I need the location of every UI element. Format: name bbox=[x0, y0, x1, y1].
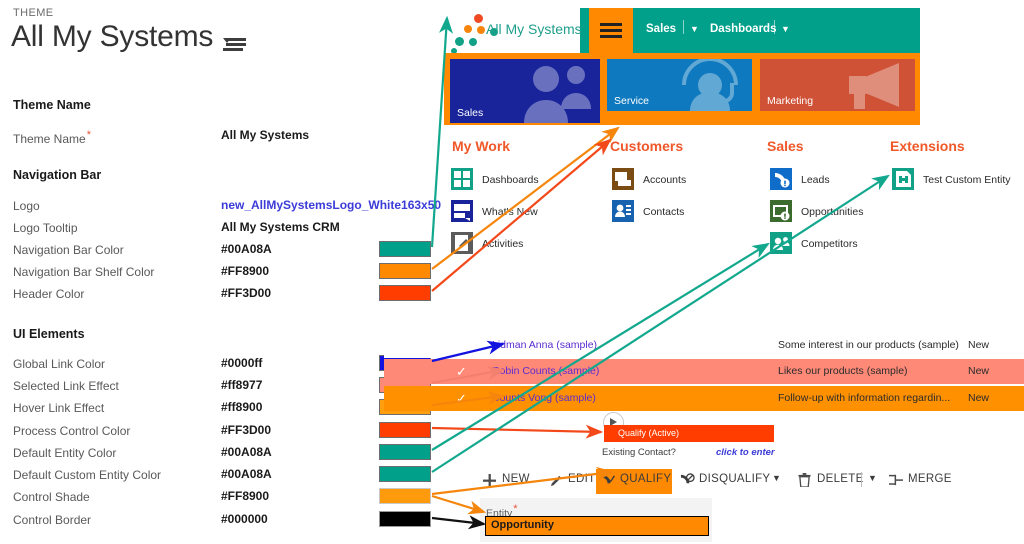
sitemap-group-my-work: My Work bbox=[452, 138, 510, 154]
command-separator bbox=[861, 472, 862, 487]
field-value-process-control-color[interactable]: #FF3D00 bbox=[221, 423, 271, 437]
swatch-control-border bbox=[379, 511, 431, 527]
contacts-icon[interactable] bbox=[612, 200, 634, 222]
field-value-header-color[interactable]: #FF3D00 bbox=[221, 286, 271, 300]
row-topic: Follow-up with information regardin... bbox=[778, 392, 950, 404]
field-value-global-link-color[interactable]: #0000ff bbox=[221, 356, 262, 370]
field-value-hover-link-effect[interactable]: #ff8900 bbox=[221, 400, 262, 414]
sitemap-item-accounts[interactable]: Accounts bbox=[643, 174, 686, 186]
sitemap-item-dashboards[interactable]: Dashboards bbox=[482, 174, 539, 186]
process-stage-qualify[interactable]: Qualify (Active) bbox=[604, 425, 774, 442]
field-label-navigation-bar-color: Navigation Bar Color bbox=[13, 243, 124, 257]
command-edit[interactable]: EDIT bbox=[568, 473, 595, 485]
plus-icon bbox=[483, 474, 496, 487]
people-icon bbox=[514, 61, 594, 123]
nav-separator-1 bbox=[683, 20, 684, 34]
process-stage-label: Qualify (Active) bbox=[618, 428, 679, 438]
tile-service[interactable]: Service bbox=[607, 59, 752, 111]
tile-marketing[interactable]: Marketing bbox=[760, 59, 915, 111]
tile-label-service: Service bbox=[614, 95, 649, 107]
page-title: All My Systems bbox=[11, 20, 213, 54]
sitemap-item-leads[interactable]: Leads bbox=[801, 174, 830, 186]
sitemap-item-whats-new[interactable]: What's New bbox=[482, 206, 538, 218]
disqualify-icon bbox=[680, 473, 695, 487]
tile-label-marketing: Marketing bbox=[767, 95, 813, 107]
field-label-logo-tooltip: Logo Tooltip bbox=[13, 221, 78, 235]
theme-form-pane: THEME All My Systems Theme Name Navigati… bbox=[0, 0, 440, 544]
accounts-icon[interactable] bbox=[612, 168, 634, 190]
field-value-default-custom-entity-color[interactable]: #00A08A bbox=[221, 467, 272, 481]
field-label-selected-link-effect: Selected Link Effect bbox=[13, 379, 119, 393]
command-qualify[interactable]: QUALIFY bbox=[620, 473, 671, 485]
app-logo-text: All My Systems bbox=[486, 21, 582, 37]
row-status: New bbox=[968, 392, 989, 404]
field-label-navigation-bar-shelf-color: Navigation Bar Shelf Color bbox=[13, 265, 154, 279]
row-name[interactable]: Counts Vong (sample) bbox=[492, 392, 596, 404]
row-status: New bbox=[968, 365, 989, 377]
section-header-ui-elements: UI Elements bbox=[13, 327, 85, 341]
sitemap-item-contacts[interactable]: Contacts bbox=[643, 206, 684, 218]
record-menu-icon[interactable] bbox=[223, 38, 243, 54]
field-value-control-border[interactable]: #000000 bbox=[221, 512, 268, 526]
nav-separator-2 bbox=[774, 20, 775, 34]
megaphone-icon bbox=[839, 59, 909, 111]
opportunities-icon[interactable] bbox=[770, 200, 792, 222]
row-topic: Likes our products (sample) bbox=[778, 365, 908, 377]
leads-icon[interactable] bbox=[770, 168, 792, 190]
table-row[interactable]: ✓ Counts Vong (sample) Follow-up with in… bbox=[384, 386, 1024, 411]
row-check-icon[interactable]: ✓ bbox=[456, 364, 467, 380]
record-type-eyebrow: THEME bbox=[13, 7, 54, 19]
nav-caret-sales-icon[interactable]: ▼ bbox=[690, 24, 699, 34]
swatch-process-control-color bbox=[379, 422, 431, 438]
field-label-hover-link-effect: Hover Link Effect bbox=[13, 401, 104, 415]
table-row[interactable]: ✓ Robin Counts (sample) Likes our produc… bbox=[384, 359, 1024, 384]
field-value-control-shade[interactable]: #FF8900 bbox=[221, 489, 269, 503]
command-new[interactable]: NEW bbox=[502, 473, 530, 485]
field-value-logo-tooltip[interactable]: All My Systems CRM bbox=[221, 220, 340, 234]
entity-field-value: Opportunity bbox=[491, 519, 554, 531]
nav-item-dashboards[interactable]: Dashboards bbox=[710, 23, 776, 35]
field-label-default-entity-color: Default Entity Color bbox=[13, 446, 116, 460]
command-merge[interactable]: MERGE bbox=[908, 473, 952, 485]
qualify-icon bbox=[601, 474, 615, 487]
field-label-default-custom-entity-color: Default Custom Entity Color bbox=[13, 468, 161, 482]
custom-entity-icon[interactable] bbox=[892, 168, 914, 190]
sitemap-item-competitors[interactable]: Competitors bbox=[801, 238, 858, 250]
swatch-default-entity-color bbox=[379, 444, 431, 460]
command-disqualify-caret-icon[interactable]: ▼ bbox=[772, 473, 781, 483]
field-value-selected-link-effect[interactable]: #ff8977 bbox=[221, 378, 262, 392]
section-header-theme-name: Theme Name bbox=[13, 98, 91, 112]
entity-field-input[interactable]: Opportunity bbox=[485, 516, 709, 536]
section-header-navigation-bar: Navigation Bar bbox=[13, 168, 101, 182]
tile-sales[interactable]: Sales bbox=[450, 59, 600, 123]
row-topic: Some interest in our products (sample) bbox=[778, 339, 959, 351]
site-map-toggle-icon[interactable] bbox=[589, 8, 633, 53]
table-row[interactable]: Lidman Anna (sample) Some interest in ou… bbox=[384, 333, 1024, 358]
trash-icon bbox=[798, 473, 811, 487]
theme-preview-pane: All My Systems Sales ▼ Dashboards ▼ Sale… bbox=[440, 0, 1024, 544]
activities-icon[interactable] bbox=[451, 232, 473, 254]
swatch-navigation-bar-color bbox=[379, 241, 431, 257]
row-status: New bbox=[968, 339, 989, 351]
field-value-theme-name[interactable]: All My Systems bbox=[221, 128, 309, 142]
field-label-global-link-color: Global Link Color bbox=[13, 357, 105, 371]
field-value-navigation-bar-shelf-color[interactable]: #FF8900 bbox=[221, 264, 269, 278]
pencil-icon bbox=[550, 474, 563, 487]
process-field-label: Existing Contact? bbox=[602, 447, 676, 458]
headset-icon bbox=[674, 59, 746, 111]
merge-icon bbox=[889, 473, 903, 487]
command-delete-caret-icon[interactable]: ▼ bbox=[868, 473, 877, 483]
tile-label-sales: Sales bbox=[457, 107, 483, 119]
field-value-navigation-bar-color[interactable]: #00A08A bbox=[221, 242, 272, 256]
row-name[interactable]: Robin Counts (sample) bbox=[492, 365, 599, 377]
field-label-logo: Logo bbox=[13, 199, 40, 213]
swatch-navigation-bar-shelf-color bbox=[379, 263, 431, 279]
competitors-icon[interactable] bbox=[770, 232, 792, 254]
nav-item-sales[interactable]: Sales bbox=[646, 23, 676, 35]
swatch-default-custom-entity-color bbox=[379, 466, 431, 482]
field-label-control-shade: Control Shade bbox=[13, 490, 90, 504]
sitemap-item-test-custom-entity[interactable]: Test Custom Entity bbox=[923, 174, 1011, 186]
swatch-control-shade bbox=[379, 488, 431, 504]
swatch-header-color bbox=[379, 285, 431, 301]
command-delete[interactable]: DELETE bbox=[817, 473, 864, 485]
row-name[interactable]: Lidman Anna (sample) bbox=[492, 339, 597, 351]
row-check-icon[interactable]: ✓ bbox=[456, 391, 467, 407]
field-label-header-color: Header Color bbox=[13, 287, 84, 301]
app-logo-container[interactable]: All My Systems bbox=[444, 8, 580, 53]
sitemap-group-extensions: Extensions bbox=[890, 138, 965, 154]
field-label-control-border: Control Border bbox=[13, 513, 91, 527]
dashboard-icon[interactable] bbox=[451, 168, 473, 190]
field-value-default-entity-color[interactable]: #00A08A bbox=[221, 445, 272, 459]
sitemap-item-activities[interactable]: Activities bbox=[482, 238, 523, 250]
sitemap-item-opportunities[interactable]: Opportunities bbox=[801, 206, 863, 218]
field-label-theme-name: Theme Name* bbox=[13, 129, 91, 146]
field-value-logo[interactable]: new_AllMySystemsLogo_White163x50 bbox=[221, 198, 441, 212]
field-label-process-control-color: Process Control Color bbox=[13, 424, 130, 438]
nav-caret-dashboards-icon[interactable]: ▼ bbox=[781, 24, 790, 34]
sitemap-group-customers: Customers bbox=[610, 138, 683, 154]
command-disqualify[interactable]: DISQUALIFY bbox=[699, 473, 770, 485]
process-field-value[interactable]: click to enter bbox=[716, 447, 775, 458]
sitemap-group-sales: Sales bbox=[767, 138, 804, 154]
whats-new-icon[interactable] bbox=[451, 200, 473, 222]
